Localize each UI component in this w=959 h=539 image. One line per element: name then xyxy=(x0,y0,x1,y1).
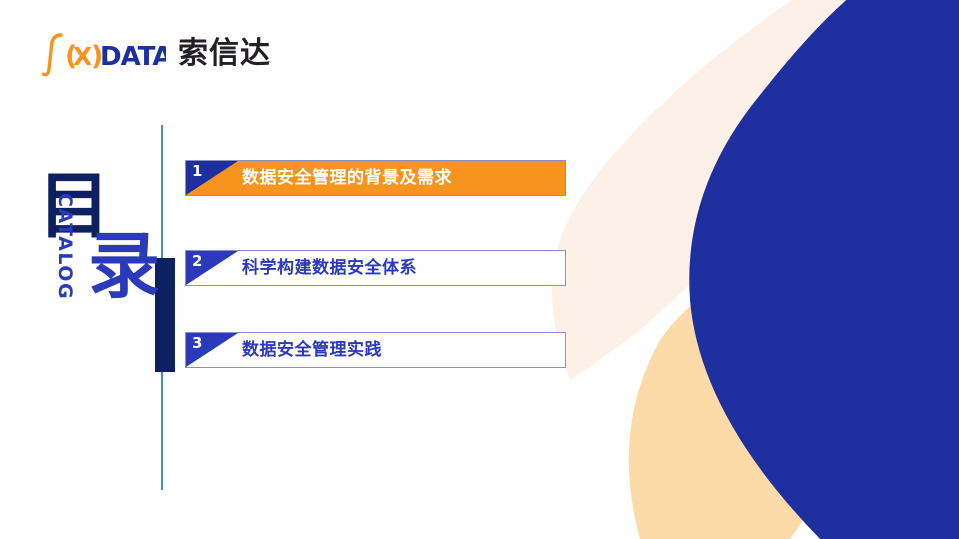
svg-text:DATA: DATA xyxy=(100,42,166,72)
brand-company-name: 索信达 xyxy=(178,39,271,69)
toc-badge-1: 1 xyxy=(186,161,238,195)
catalog-char-lu: 录 xyxy=(88,230,160,302)
brand-logo: ( X ) DATA 索信达 xyxy=(38,28,271,80)
toc-number-2: 2 xyxy=(192,254,202,269)
toc-label-1: 数据安全管理的背景及需求 xyxy=(238,161,452,195)
toc-label-3: 数据安全管理实践 xyxy=(238,333,382,367)
toc-badge-2: 2 xyxy=(186,251,238,285)
catalog-heading: 目 录 CATALOG xyxy=(30,178,150,338)
toc-label-2: 科学构建数据安全体系 xyxy=(238,251,417,285)
toc-item-3[interactable]: 3 数据安全管理实践 xyxy=(185,332,566,368)
toc-number-1: 1 xyxy=(192,164,202,179)
toc-number-3: 3 xyxy=(192,336,202,351)
catalog-english-label: CATALOG xyxy=(55,193,74,298)
toc-item-1[interactable]: 1 数据安全管理的背景及需求 xyxy=(185,160,566,196)
toc-badge-3: 3 xyxy=(186,333,238,367)
svg-text:X: X xyxy=(73,42,92,71)
xdata-logo-icon: ( X ) DATA xyxy=(38,29,166,79)
toc-item-2[interactable]: 2 科学构建数据安全体系 xyxy=(185,250,566,286)
